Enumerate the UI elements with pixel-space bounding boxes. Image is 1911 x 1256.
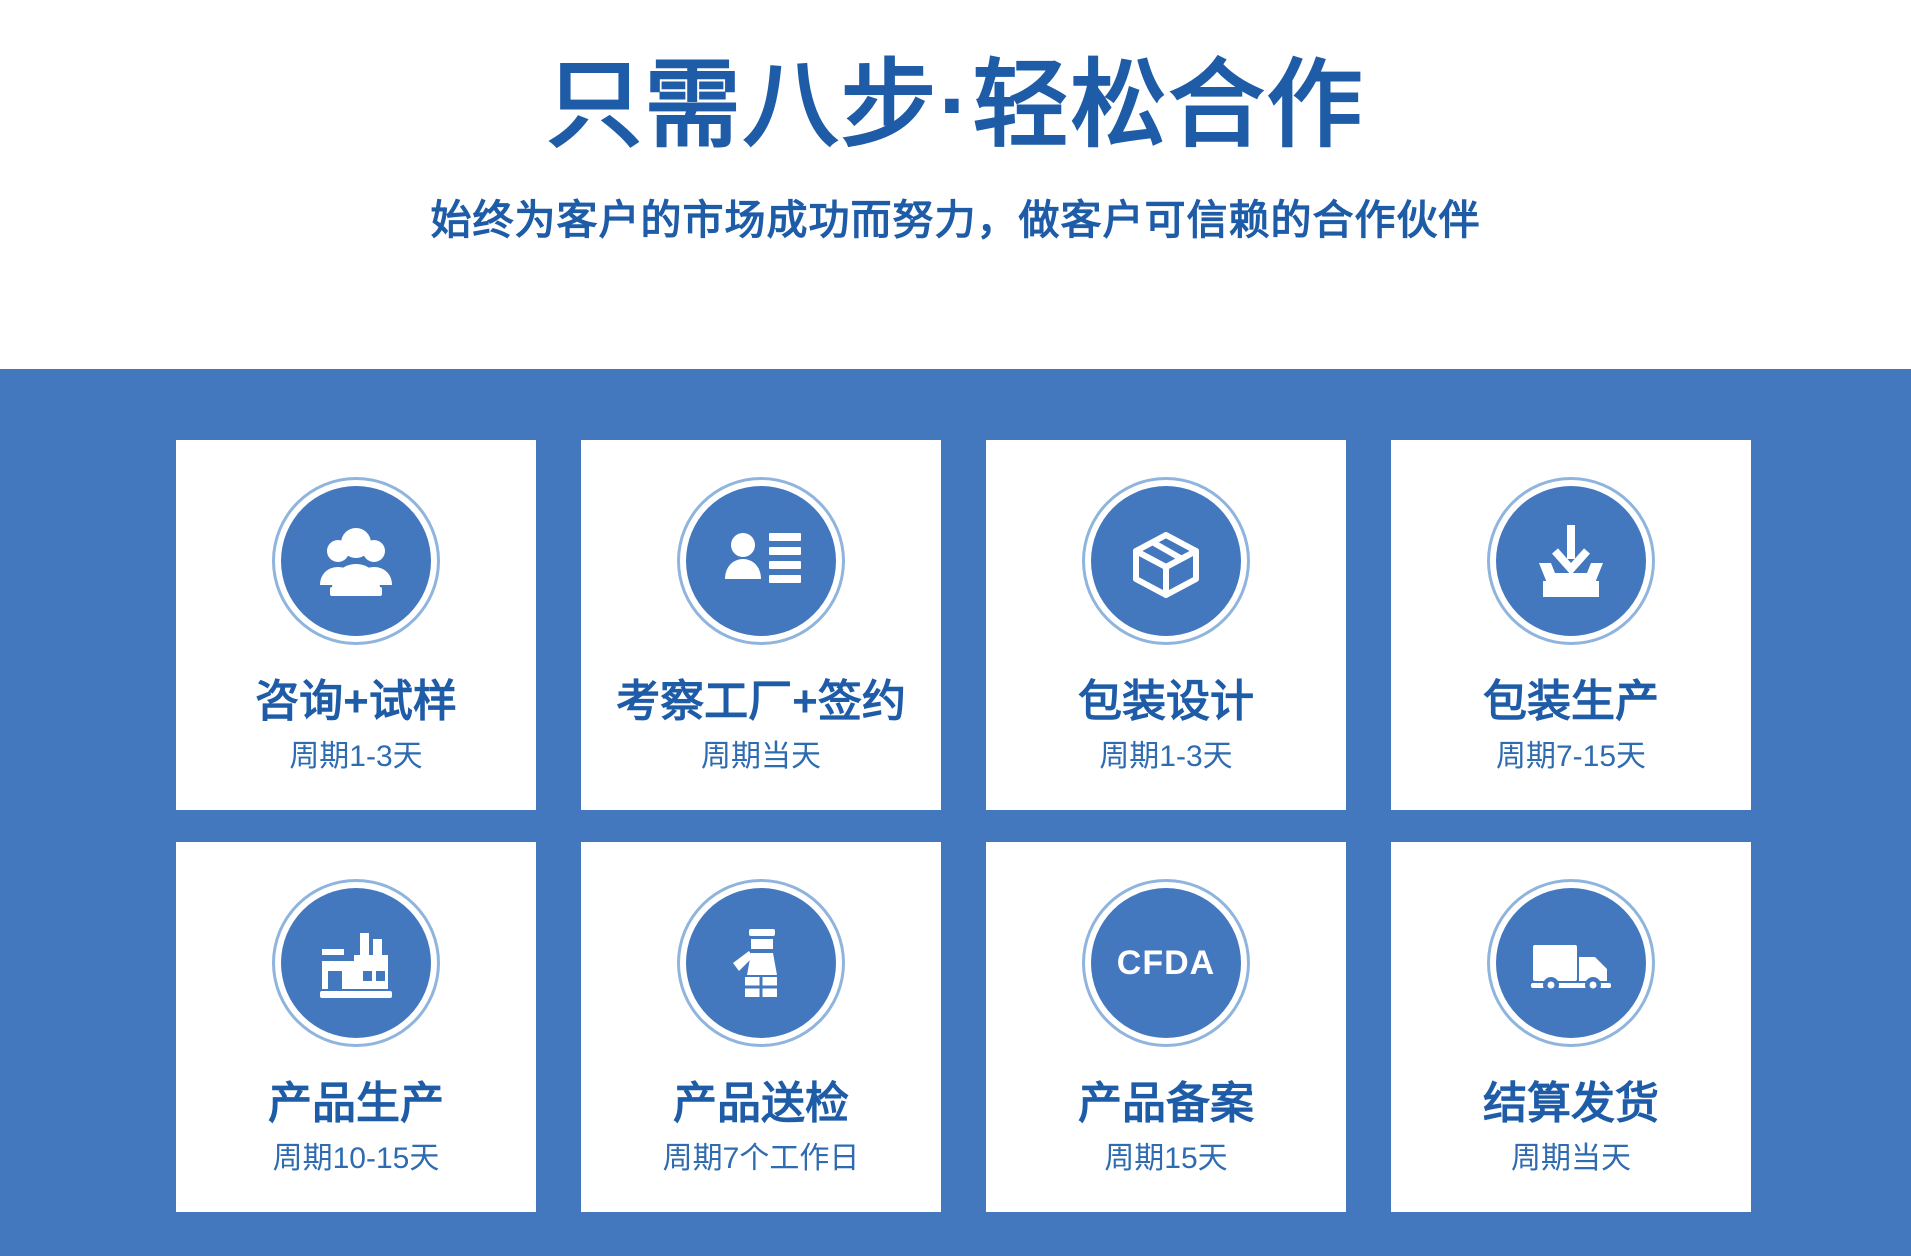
step-cycle: 周期15天 [1104, 1142, 1227, 1175]
delivery-truck-icon [1496, 888, 1646, 1038]
step-card[interactable]: 包装设计 周期1-3天 [986, 440, 1346, 810]
step-cycle: 周期10-15天 [273, 1142, 440, 1175]
page-title: 只需八步·轻松合作 [547, 52, 1365, 160]
header: 只需八步·轻松合作 始终为客户的市场成功而努力，做客户可信赖的合作伙伴 [0, 0, 1911, 370]
open-box-icon [1091, 486, 1241, 636]
step-card[interactable]: 考察工厂+签约 周期当天 [581, 440, 941, 810]
step-title: 产品送检 [673, 1080, 849, 1128]
page-root: 只需八步·轻松合作 始终为客户的市场成功而努力，做客户可信赖的合作伙伴 [0, 0, 1911, 1256]
step-card[interactable]: 包装生产 周期7-15天 [1391, 440, 1751, 810]
step-title: 结算发货 [1483, 1080, 1659, 1128]
step-title: 产品生产 [268, 1080, 444, 1128]
inspector-icon [686, 888, 836, 1038]
box-download-icon [1496, 486, 1646, 636]
step-title: 包装生产 [1483, 678, 1659, 726]
factory-icon [281, 888, 431, 1038]
step-title: 产品备案 [1078, 1080, 1254, 1128]
step-card[interactable]: 咨询+试样 周期1-3天 [176, 440, 536, 810]
step-cycle: 周期当天 [701, 740, 821, 773]
cfda-logo-icon: CFDA [1091, 888, 1241, 1038]
step-cycle: 周期1-3天 [1099, 740, 1232, 773]
step-card[interactable]: CFDA 产品备案 周期15天 [986, 842, 1346, 1212]
cfda-logo-text: CFDA [1117, 944, 1215, 983]
step-title: 咨询+试样 [255, 678, 457, 726]
step-title: 考察工厂+签约 [616, 678, 906, 726]
steps-grid: 咨询+试样 周期1-3天 考察工厂+签约 周期当天 [176, 440, 1761, 1212]
step-cycle: 周期1-3天 [289, 740, 422, 773]
step-title: 包装设计 [1078, 678, 1254, 726]
step-card[interactable]: 产品送检 周期7个工作日 [581, 842, 941, 1212]
step-cycle: 周期当天 [1511, 1142, 1631, 1175]
step-cycle: 周期7-15天 [1496, 740, 1646, 773]
step-card[interactable]: 结算发货 周期当天 [1391, 842, 1751, 1212]
step-card[interactable]: 产品生产 周期10-15天 [176, 842, 536, 1212]
users-group-icon [281, 486, 431, 636]
page-subtitle: 始终为客户的市场成功而努力，做客户可信赖的合作伙伴 [431, 186, 1481, 246]
id-card-icon [686, 486, 836, 636]
step-cycle: 周期7个工作日 [663, 1142, 860, 1175]
